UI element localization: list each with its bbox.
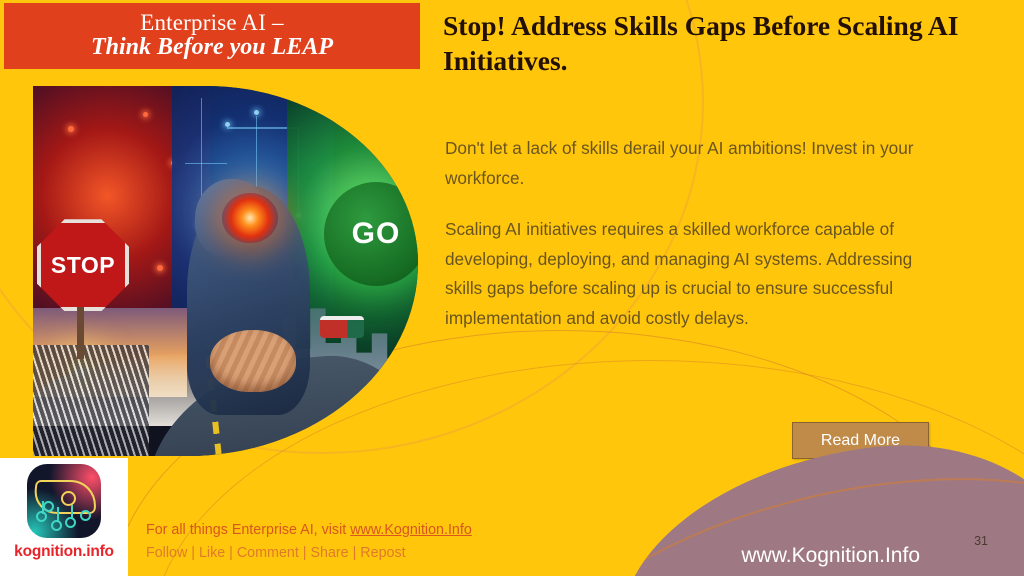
brand-logo[interactable]: kognition.info [0,458,128,576]
page-number: 31 [974,534,988,548]
body-paragraph-2: Scaling AI initiatives requires a skille… [445,215,935,333]
stop-sign-icon: STOP [37,219,129,311]
hero-scene: STOP GO [33,86,418,456]
slide-canvas: Enterprise AI – Think Before you LEAP [0,0,1024,576]
red-bus [320,316,364,338]
brand-url: www.Kognition.Info [741,544,920,568]
footer-social-actions[interactable]: Follow | Like | Comment | Share | Repost [146,542,472,565]
hero-illustration: STOP GO [33,86,418,456]
body-copy: Don't let a lack of skills derail your A… [445,134,935,333]
footer-website-link[interactable]: www.Kognition.Info [350,522,472,538]
circuit-field [33,345,149,456]
stop-sign-post [77,307,84,359]
page-title: Stop! Address Skills Gaps Before Scaling… [443,8,963,78]
footer-prefix: For all things Enterprise AI, visit [146,522,350,538]
glowing-mind-icon [222,193,278,243]
stop-sign-label: STOP [37,219,129,311]
footer-line-1: For all things Enterprise AI, visit www.… [146,519,472,542]
kognition-circuit-fish-icon [27,464,101,538]
footer-links: For all things Enterprise AI, visit www.… [146,519,472,565]
series-banner: Enterprise AI – Think Before you LEAP [4,3,420,69]
body-paragraph-1: Don't let a lack of skills derail your A… [445,134,935,193]
series-banner-line2: Think Before you LEAP [91,35,333,61]
series-banner-line1: Enterprise AI – [140,11,284,36]
go-signal-icon: GO [324,182,418,286]
brain-icon [210,330,296,392]
logo-wordmark: kognition.info [14,543,114,561]
